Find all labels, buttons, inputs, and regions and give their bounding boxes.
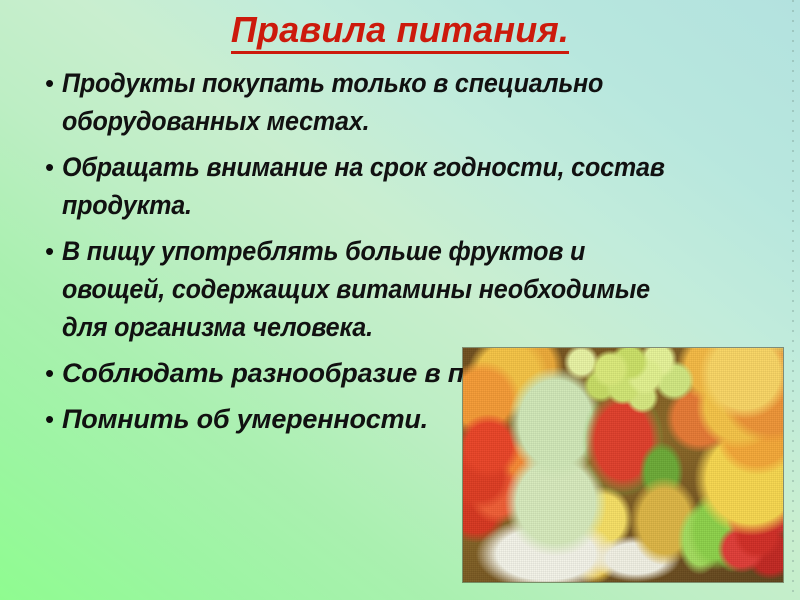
- placeholder-guide-line: [792, 0, 794, 600]
- slide-title: Правила питания.: [0, 10, 800, 54]
- slide-canvas: Правила питания. • Продукты покупать тол…: [0, 0, 800, 600]
- fruit-photo: [463, 348, 783, 582]
- list-item: • Продукты покупать только в специально …: [36, 64, 736, 140]
- bullet-dot-icon: •: [36, 232, 62, 270]
- list-item-label: В пищу употреблять больше фруктов и овощ…: [62, 232, 689, 346]
- bullet-dot-icon: •: [36, 400, 62, 438]
- page-title: Правила питания.: [231, 10, 569, 54]
- fruit-photo-image: [463, 348, 783, 582]
- bullet-dot-icon: •: [36, 148, 62, 186]
- list-item-label: Обращать внимание на срок годности, сост…: [62, 148, 689, 224]
- list-item-label: Продукты покупать только в специально об…: [62, 64, 689, 140]
- list-item: • Обращать внимание на срок годности, со…: [36, 148, 736, 224]
- list-item: • В пищу употреблять больше фруктов и ов…: [36, 232, 736, 346]
- bullet-dot-icon: •: [36, 354, 62, 392]
- bullet-dot-icon: •: [36, 64, 62, 102]
